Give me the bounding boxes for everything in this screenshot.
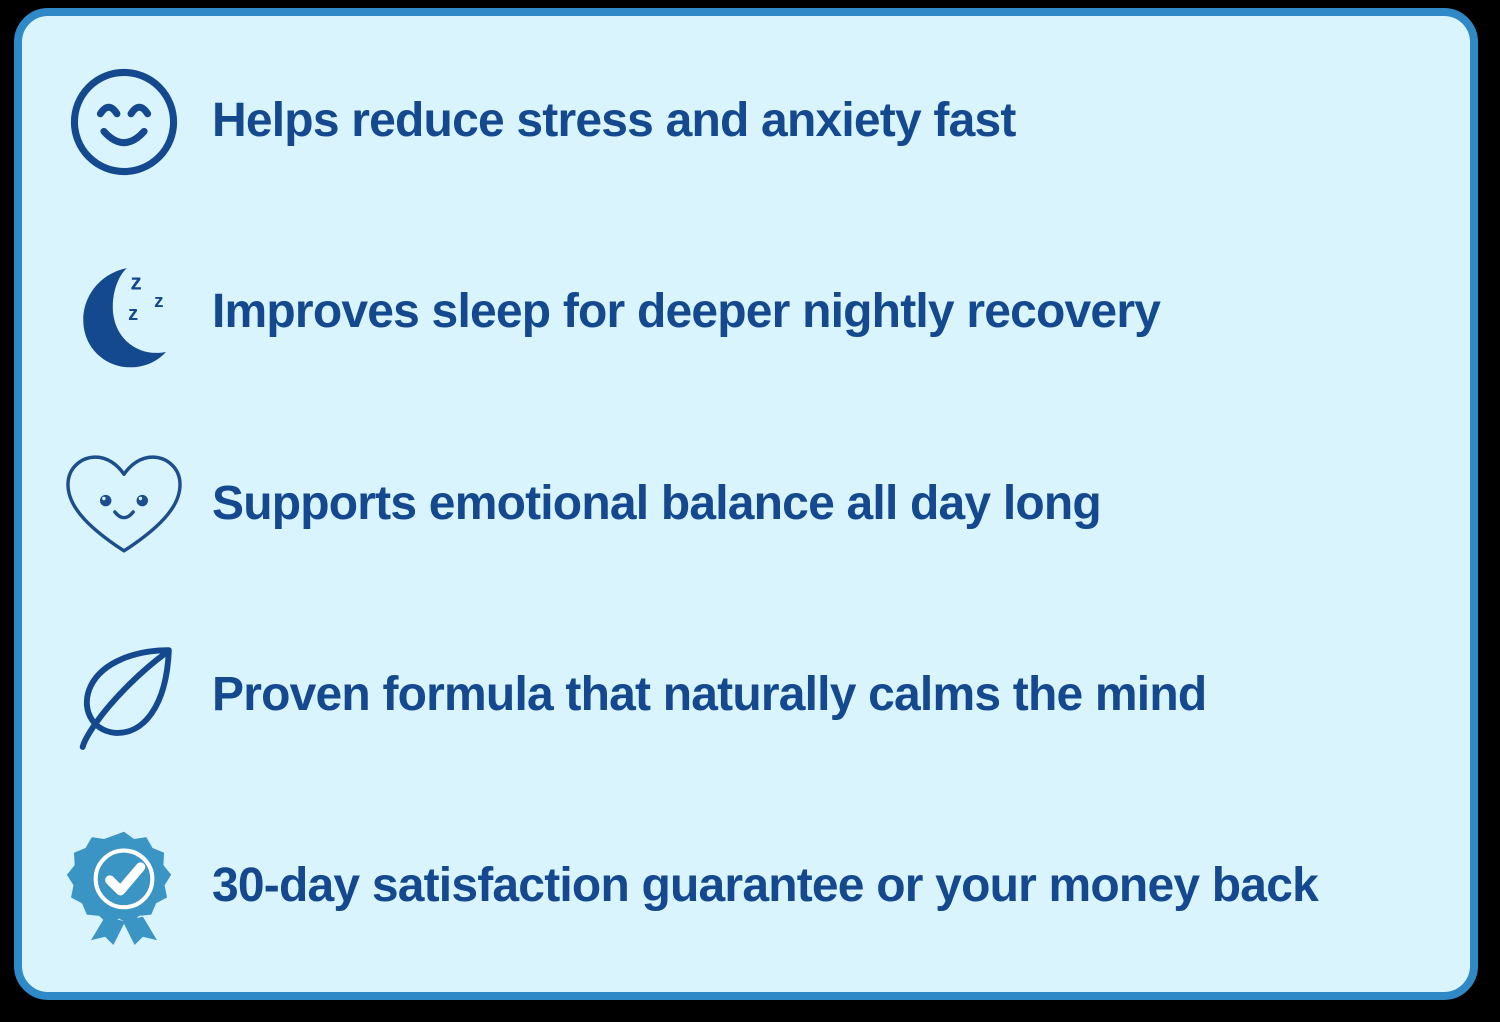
smiling-heart-icon [58,438,190,570]
benefit-item-guarantee: 30-day satisfaction guarantee or your mo… [22,791,1470,982]
benefits-card: Helps reduce stress and anxiety fast z z… [14,8,1478,1000]
leaf-icon [58,629,190,761]
benefit-label: 30-day satisfaction guarantee or your mo… [212,860,1318,913]
svg-text:z: z [154,290,163,311]
smiley-face-icon [58,56,190,188]
svg-text:z: z [128,303,138,325]
benefit-label: Helps reduce stress and anxiety fast [212,95,1016,148]
benefit-item-stress: Helps reduce stress and anxiety fast [22,26,1470,217]
benefit-item-sleep: z z z Improves sleep for deeper nightly … [22,217,1470,408]
benefit-label: Supports emotional balance all day long [212,478,1101,531]
benefit-item-formula: Proven formula that naturally calms the … [22,600,1470,791]
benefit-label: Proven formula that naturally calms the … [212,669,1206,722]
benefit-label: Improves sleep for deeper nightly recove… [212,286,1160,339]
guarantee-badge-check-icon [58,820,190,952]
svg-text:z: z [130,269,141,294]
crescent-moon-sleep-icon: z z z [58,247,190,379]
benefit-item-balance: Supports emotional balance all day long [22,408,1470,599]
